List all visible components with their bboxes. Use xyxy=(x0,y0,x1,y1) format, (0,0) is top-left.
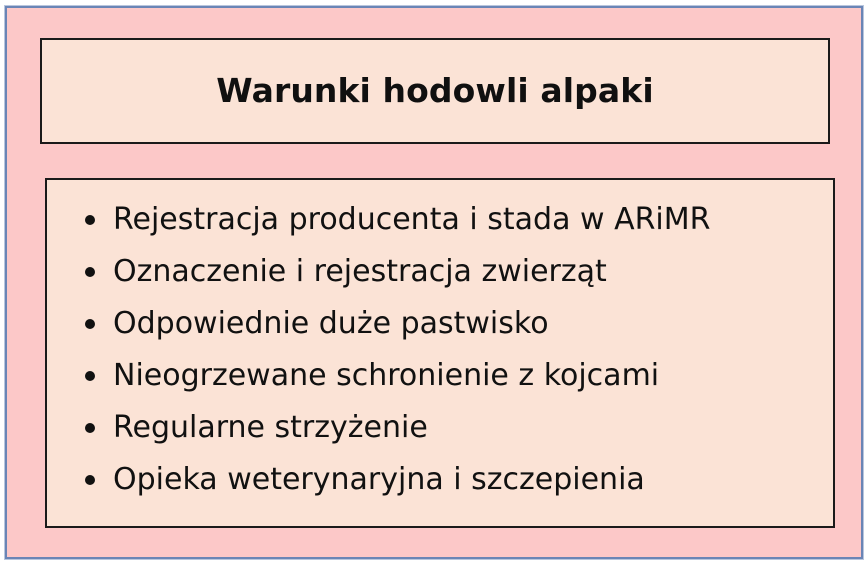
slide-card: Warunki hodowli alpaki Rejestracja produ… xyxy=(5,6,863,559)
list-item-label: Rejestracja producenta i stada w ARiMR xyxy=(113,202,711,237)
list-item-label: Odpowiednie duże pastwisko xyxy=(113,306,549,341)
list-item: Oznaczenie i rejestracja zwierząt xyxy=(47,246,833,298)
bullet-dot-icon xyxy=(85,319,95,329)
bullet-list: Rejestracja producenta i stada w ARiMR O… xyxy=(47,194,833,506)
bullet-dot-icon xyxy=(85,215,95,225)
list-item-label: Opieka weterynaryjna i szczepienia xyxy=(113,462,645,497)
list-item: Nieogrzewane schronienie z kojcami xyxy=(47,350,833,402)
list-item: Opieka weterynaryjna i szczepienia xyxy=(47,454,833,506)
bullet-dot-icon xyxy=(85,371,95,381)
list-item-label: Regularne strzyżenie xyxy=(113,410,428,445)
slide-canvas: Warunki hodowli alpaki Rejestracja produ… xyxy=(0,0,868,567)
list-item-label: Oznaczenie i rejestracja zwierząt xyxy=(113,254,607,289)
bullet-list-panel: Rejestracja producenta i stada w ARiMR O… xyxy=(45,178,835,528)
list-item: Odpowiednie duże pastwisko xyxy=(47,298,833,350)
list-item-label: Nieogrzewane schronienie z kojcami xyxy=(113,358,659,393)
list-item: Regularne strzyżenie xyxy=(47,402,833,454)
page-title: Warunki hodowli alpaki xyxy=(216,73,653,109)
title-panel: Warunki hodowli alpaki xyxy=(40,38,830,144)
bullet-dot-icon xyxy=(85,475,95,485)
list-item: Rejestracja producenta i stada w ARiMR xyxy=(47,194,833,246)
bullet-dot-icon xyxy=(85,423,95,433)
bullet-dot-icon xyxy=(85,267,95,277)
